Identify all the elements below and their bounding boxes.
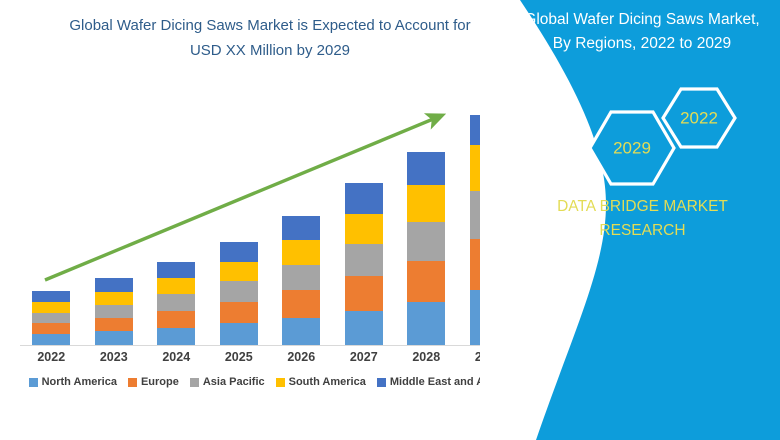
legend-label: Europe: [141, 376, 179, 388]
growth-trend-arrow: [0, 90, 540, 350]
chart-title-line-1: Global Wafer Dicing Saws Market is Expec…: [20, 14, 520, 39]
legend-label: South America: [289, 376, 366, 388]
legend-item[interactable]: Europe: [128, 376, 179, 388]
chart-panel: Global Wafer Dicing Saws Market is Expec…: [0, 0, 540, 440]
x-axis-label-2024: 2024: [145, 350, 207, 364]
legend-swatch-icon: [29, 378, 38, 387]
legend-swatch-icon: [128, 378, 137, 387]
x-axis-label-2023: 2023: [83, 350, 145, 364]
legend-label: Asia Pacific: [203, 376, 265, 388]
legend-item[interactable]: North America: [29, 376, 117, 388]
chart-legend: North AmericaEuropeAsia PacificSouth Ame…: [18, 376, 518, 388]
hexagon-2029-label: 2029: [613, 139, 651, 158]
x-axis-label-2025: 2025: [208, 350, 270, 364]
legend-swatch-icon: [190, 378, 199, 387]
chart-title-line-2: USD XX Million by 2029: [20, 39, 520, 64]
x-axis-label-2028: 2028: [395, 350, 457, 364]
legend-item[interactable]: Asia Pacific: [190, 376, 265, 388]
x-axis-label-2027: 2027: [333, 350, 395, 364]
panel-title: Global Wafer Dicing Saws Market, By Regi…: [508, 8, 776, 56]
x-axis-labels: 20222023202420252026202720282029: [20, 350, 520, 372]
chart-title: Global Wafer Dicing Saws Market is Expec…: [20, 14, 520, 64]
brand-name: DATA BRIDGE MARKET RESEARCH: [510, 195, 775, 243]
legend-label: North America: [42, 376, 117, 388]
hexagon-2022-label: 2022: [680, 109, 718, 128]
hexagon-badges: 2022 2029: [575, 85, 750, 190]
brand-line-1: DATA BRIDGE MARKET: [510, 195, 775, 219]
brand-line-2: RESEARCH: [510, 219, 775, 243]
branding-panel: Global Wafer Dicing Saws Market, By Regi…: [480, 0, 780, 440]
legend-swatch-icon: [377, 378, 386, 387]
legend-swatch-icon: [276, 378, 285, 387]
panel-title-line-2: By Regions, 2022 to 2029: [508, 32, 776, 56]
x-axis-label-2022: 2022: [20, 350, 82, 364]
legend-item[interactable]: South America: [276, 376, 366, 388]
x-axis-label-2026: 2026: [270, 350, 332, 364]
panel-title-line-1: Global Wafer Dicing Saws Market,: [508, 8, 776, 32]
infographic-root: Global Wafer Dicing Saws Market is Expec…: [0, 0, 780, 440]
